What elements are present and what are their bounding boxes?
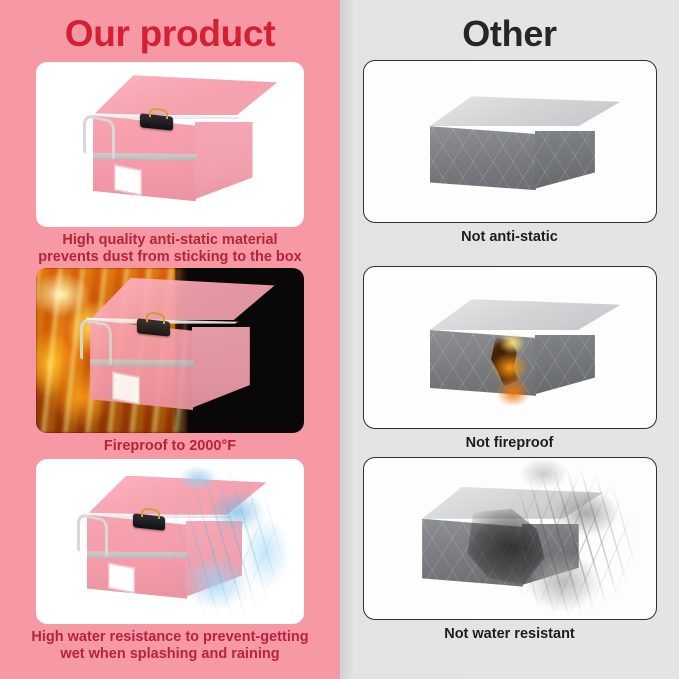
product-image-water-resistant <box>36 459 304 624</box>
our-product-column: Our product High <box>0 0 340 679</box>
scene-water <box>36 459 304 624</box>
caption-line-1: High water resistance to prevent-getting <box>0 629 340 646</box>
box-side-face <box>195 122 253 200</box>
water-splash-arcs <box>474 458 655 619</box>
panel-not-fireproof: Not fireproof <box>340 266 679 452</box>
other-image-not-anti-static <box>363 60 657 223</box>
box-lid <box>60 278 274 320</box>
other-image-not-fireproof <box>363 266 657 429</box>
scene-plain-white <box>364 61 656 222</box>
box-label-window <box>114 164 142 196</box>
scene-plain-white <box>36 62 304 227</box>
our-product-title: Our product <box>0 0 340 64</box>
quilted-texture <box>535 131 595 189</box>
caption-line-2: wet when splashing and raining <box>0 646 340 663</box>
panel-anti-static: High quality anti-static material preven… <box>0 62 340 266</box>
box-side-face <box>535 335 595 395</box>
quilted-texture <box>430 126 537 190</box>
box-handle <box>77 513 108 557</box>
caption-line-1: Not anti-static <box>340 229 679 246</box>
panel-fireproof: Fireproof to 2000°F <box>0 268 340 455</box>
box-lid <box>63 75 277 115</box>
quilted-texture <box>535 335 595 395</box>
pink-storage-box <box>60 278 274 423</box>
product-image-fireproof <box>36 268 304 433</box>
box-side-face <box>192 327 250 408</box>
caption-anti-static: High quality anti-static material preven… <box>0 227 340 266</box>
caption-not-water-resistant: Not water resistant <box>340 620 679 643</box>
scene-soaked <box>364 458 656 619</box>
other-image-not-water-resistant <box>363 457 657 620</box>
box-label-window <box>108 562 135 593</box>
caption-water-resistant: High water resistance to prevent-getting… <box>0 624 340 663</box>
box-side-face <box>535 131 595 189</box>
other-title: Other <box>340 0 679 64</box>
panel-water-resistant: High water resistance to prevent-getting… <box>0 459 340 663</box>
comparison-infographic: Our product High <box>0 0 679 679</box>
caption-fireproof: Fireproof to 2000°F <box>0 433 340 455</box>
caption-not-fireproof: Not fireproof <box>340 429 679 452</box>
caption-line-1: Not fireproof <box>340 435 679 452</box>
product-image-anti-static <box>36 62 304 227</box>
box-handle <box>83 114 115 159</box>
box-lid <box>399 299 621 330</box>
box-handle <box>80 318 112 365</box>
box-front-face <box>430 126 537 190</box>
panel-not-anti-static: Not anti-static <box>340 60 679 246</box>
water-splash-arcs <box>138 459 304 624</box>
gray-storage-box <box>399 96 621 199</box>
caption-line-1: High quality anti-static material <box>0 232 340 249</box>
caption-line-2: prevents dust from sticking to the box <box>0 249 340 266</box>
box-lid <box>399 96 621 126</box>
caption-line-1: Not water resistant <box>340 626 679 643</box>
flames <box>483 333 541 405</box>
scene-burning <box>364 267 656 428</box>
gray-storage-box <box>399 299 621 405</box>
pink-storage-box <box>63 75 277 214</box>
box-label-window <box>112 371 140 404</box>
caption-line-1: Fireproof to 2000°F <box>0 438 340 455</box>
panel-not-water-resistant: Not water resistant <box>340 457 679 643</box>
other-column: Other Not anti-static <box>340 0 679 679</box>
scene-fire <box>36 268 304 433</box>
caption-not-anti-static: Not anti-static <box>340 223 679 246</box>
